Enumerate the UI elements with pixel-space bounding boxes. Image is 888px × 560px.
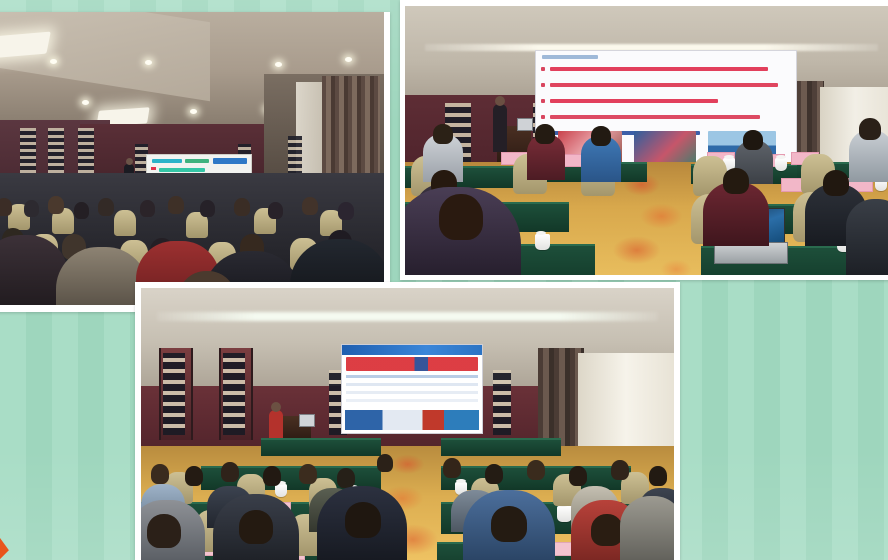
photo-top-left[interactable] <box>0 12 390 312</box>
photo-top-right[interactable] <box>400 0 888 280</box>
collage-canvas <box>0 0 888 560</box>
photo-top-left-image <box>0 12 384 305</box>
photo-bottom-center[interactable] <box>135 282 680 560</box>
photo-top-right-image <box>405 6 888 275</box>
projection-screen-c <box>341 344 483 434</box>
photo-bottom-center-image <box>141 288 674 560</box>
